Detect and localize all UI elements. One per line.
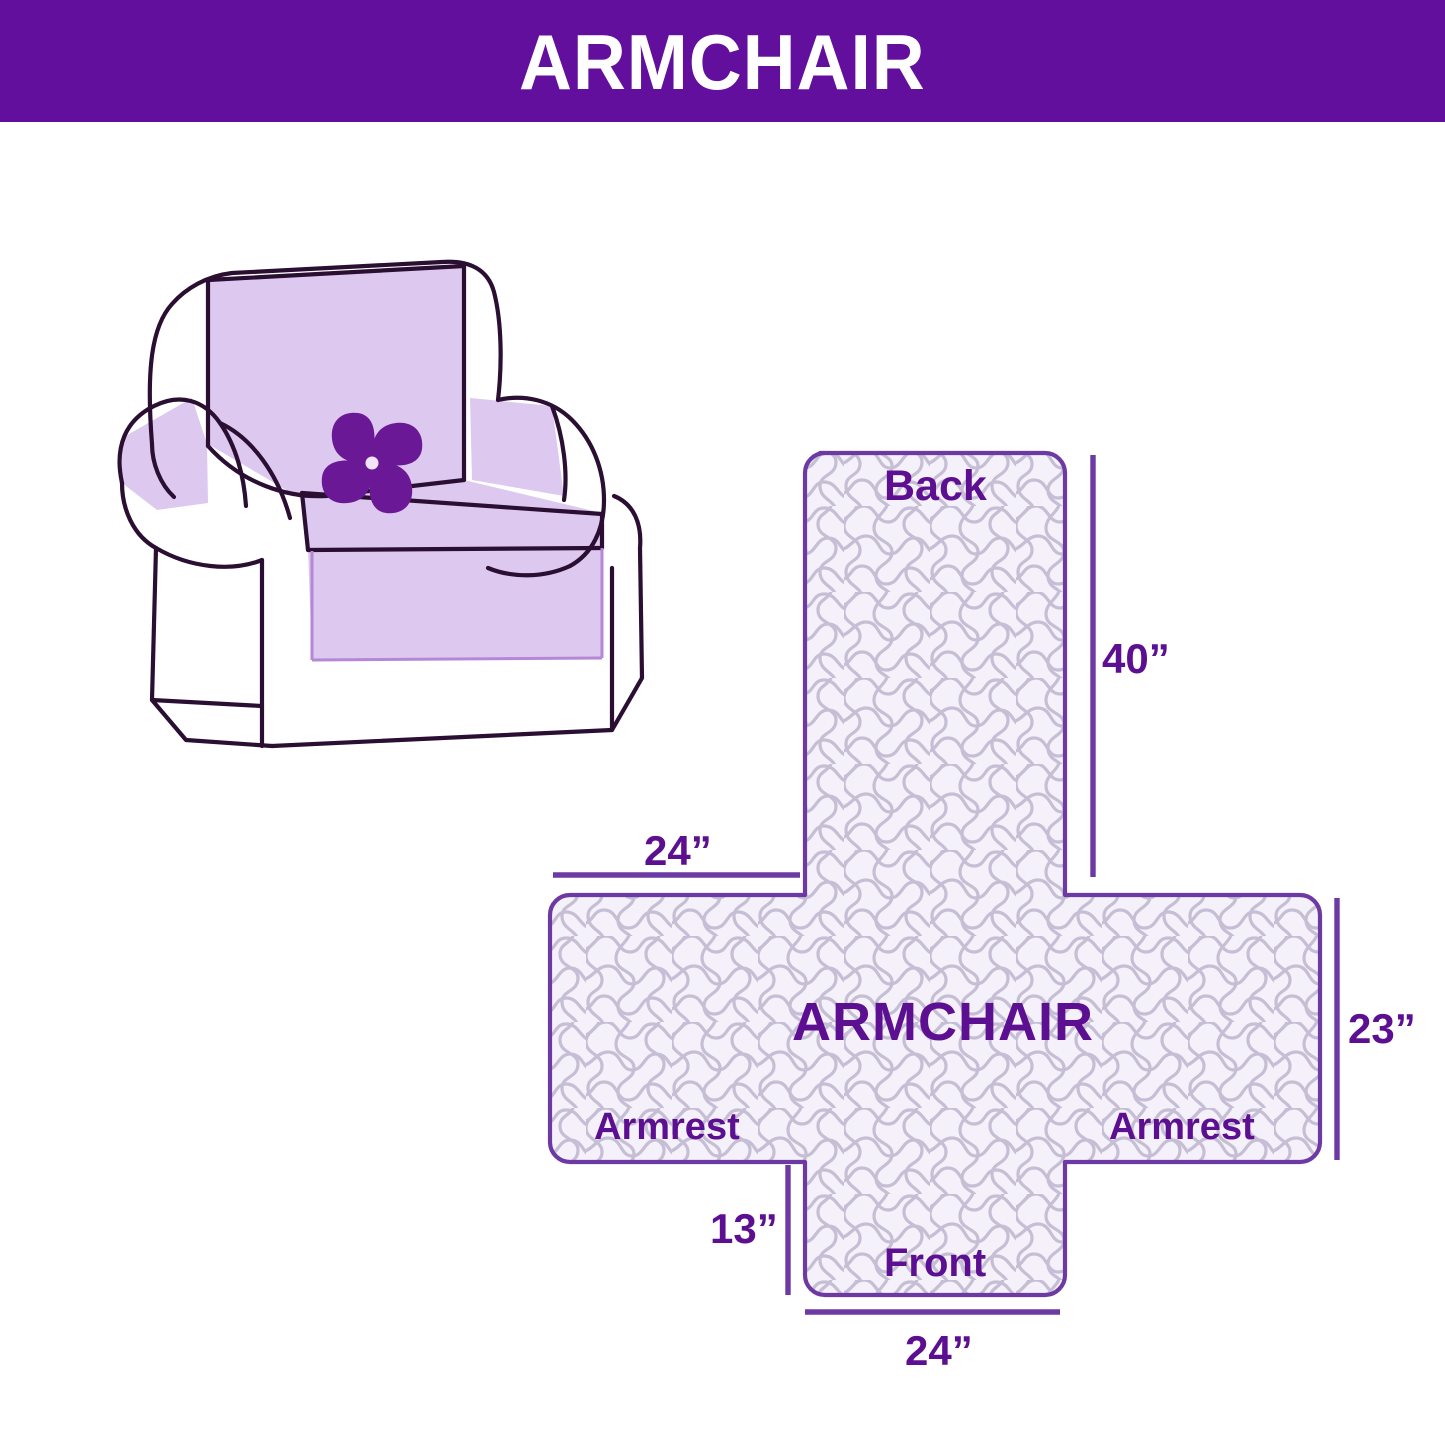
panel-label-back: Back: [884, 465, 987, 508]
dimension-label-arm-height: 23”: [1348, 1008, 1416, 1050]
slipcover-flat-diagram: [500, 420, 1445, 1365]
panel-label-armrest-left: Armrest: [594, 1108, 740, 1146]
dimension-label-back-height: 40”: [1102, 638, 1170, 680]
pinwheel-fan-icon: [322, 413, 423, 514]
dimension-label-front-height: 13”: [710, 1208, 778, 1250]
page-title: ARMCHAIR: [519, 23, 926, 101]
panel-label-armchair: ARMCHAIR: [792, 995, 1094, 1049]
panel-label-front: Front: [884, 1243, 986, 1283]
dimension-label-back-width: 24”: [644, 830, 712, 872]
panel-label-armrest-right: Armrest: [1109, 1108, 1255, 1146]
header-bar: ARMCHAIR: [0, 0, 1445, 122]
product-dimension-infographic: ARMCHAIR: [0, 0, 1445, 1445]
dimension-label-front-width: 24”: [905, 1330, 973, 1372]
